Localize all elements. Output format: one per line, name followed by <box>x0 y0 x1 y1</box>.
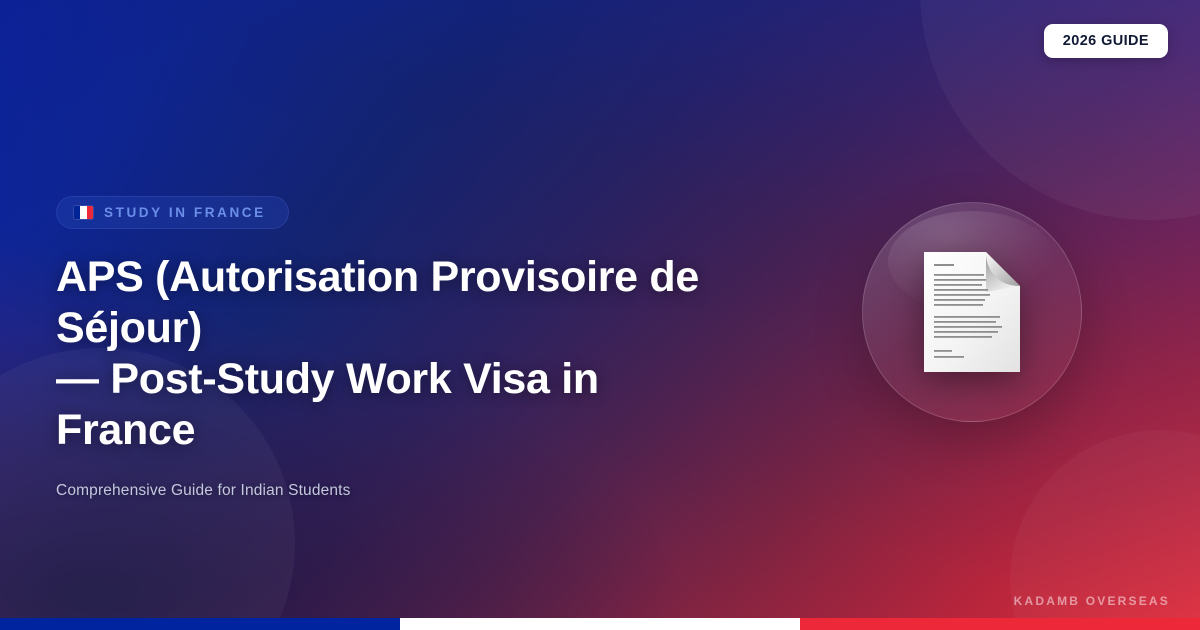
page-title: APS (Autorisation Provisoire de Séjour) … <box>56 252 716 457</box>
france-flag-icon <box>74 206 93 219</box>
brand-watermark: KADAMB OVERSEAS <box>1014 594 1170 608</box>
document-page-icon <box>924 252 1020 372</box>
flag-stripe-white <box>400 618 800 630</box>
france-flag-bar <box>0 618 1200 630</box>
page-subtitle: Comprehensive Guide for Indian Students <box>56 482 756 500</box>
document-illustration <box>862 202 1082 422</box>
flag-stripe-blue <box>0 618 400 630</box>
study-in-france-label: STUDY IN FRANCE <box>104 205 266 220</box>
study-in-france-pill: STUDY IN FRANCE <box>56 196 289 229</box>
page-title-line-3: — Post-Study Work Visa in France <box>56 354 716 456</box>
page-title-line-1: APS (Autorisation Provisoire de <box>56 252 716 303</box>
flag-stripe-red <box>800 618 1200 630</box>
hero-content: STUDY IN FRANCE APS (Autorisation Provis… <box>56 196 756 500</box>
hero-banner: 2026 GUIDE STUDY IN FRANCE APS (Autorisa… <box>0 0 1200 630</box>
page-title-line-2: Séjour) <box>56 303 716 354</box>
guide-year-badge[interactable]: 2026 GUIDE <box>1044 24 1168 58</box>
